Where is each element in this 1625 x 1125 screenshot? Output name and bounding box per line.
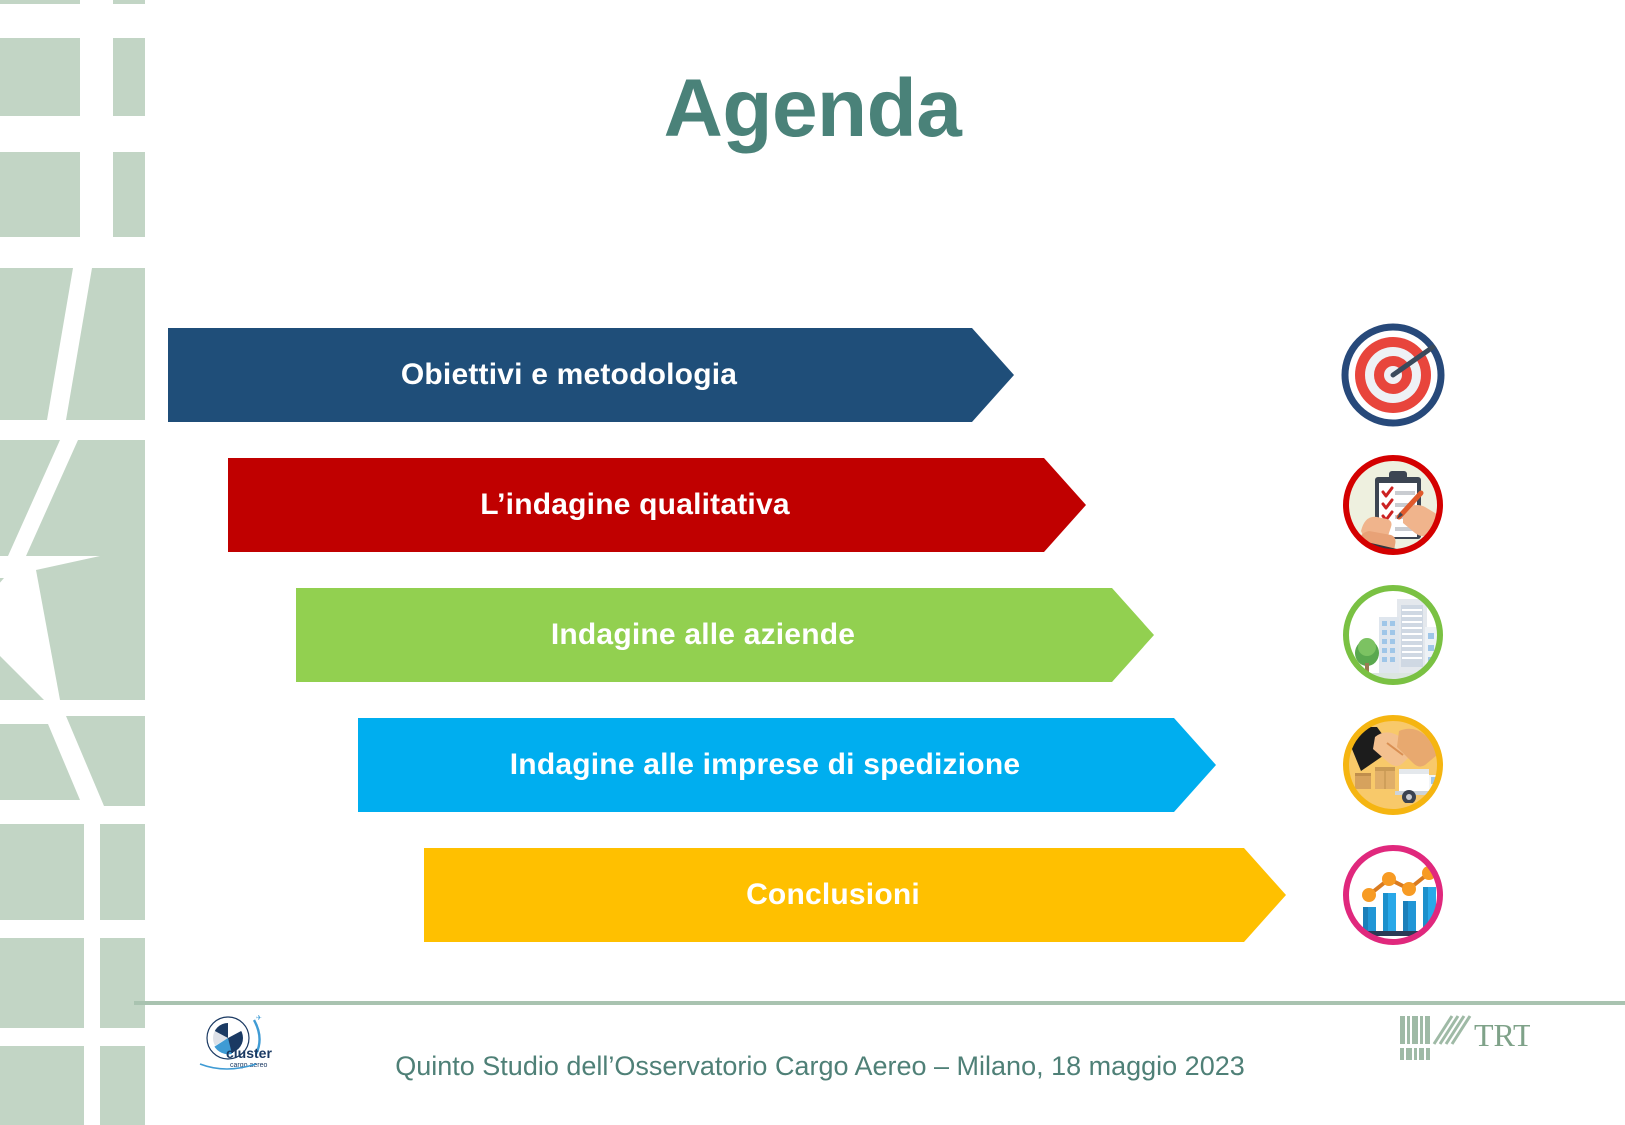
bar-chart-growth-icon-svg — [1341, 843, 1445, 947]
clipboard-checklist-icon — [1341, 453, 1445, 557]
footer-divider — [134, 1001, 1625, 1005]
clipboard-checklist-icon-svg — [1341, 453, 1445, 557]
agenda-icon-column — [0, 0, 1625, 1125]
bar-chart-growth-icon — [1341, 843, 1445, 947]
office-buildings-icon — [1341, 583, 1445, 687]
trt-logo-svg: TRT — [1400, 1010, 1530, 1068]
trt-logo-wordmark: TRT — [1474, 1017, 1530, 1053]
cluster-logo-wordmark: cluster — [226, 1045, 272, 1061]
target-icon-svg — [1341, 323, 1445, 427]
target-icon — [1341, 323, 1445, 427]
handshake-delivery-truck-icon-svg — [1341, 713, 1445, 817]
handshake-delivery-truck-icon — [1341, 713, 1445, 817]
trt-logo: TRT — [1400, 1010, 1530, 1068]
footer-caption: Quinto Studio dell’Osservatorio Cargo Ae… — [270, 1051, 1370, 1082]
svg-text:✈: ✈ — [256, 1015, 262, 1022]
office-buildings-icon-svg — [1341, 583, 1445, 687]
